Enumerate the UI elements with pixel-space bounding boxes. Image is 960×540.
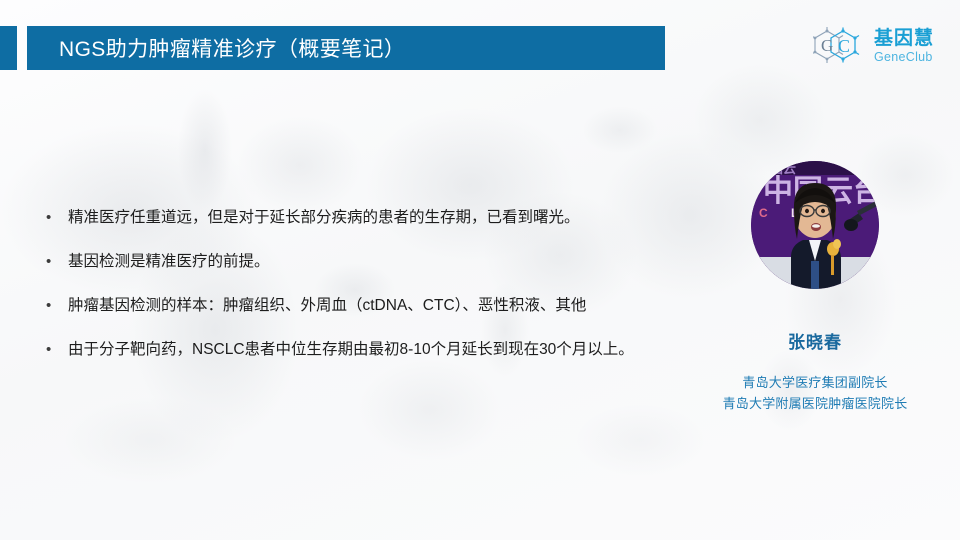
speaker-titles: 青岛大学医疗集团副院长 青岛大学附属医院肿瘤医院院长 [690,372,940,414]
logo-wordmark: 基因慧 GeneClub [874,29,934,64]
page-title: NGS助力肿瘤精准诊疗（概要笔记） [27,33,405,63]
bullet-marker-icon: • [46,250,68,274]
list-item: • 精准医疗任重道远，但是对于延长部分疾病的患者的生存期，已看到曙光。 [46,206,706,230]
bullet-text: 由于分子靶向药，NSCLC患者中位生存期由最初8-10个月延长到现在30个月以上… [68,338,634,362]
speaker-title-line: 青岛大学附属医院肿瘤医院院长 [690,393,940,414]
slide-title-bar: NGS助力肿瘤精准诊疗（概要笔记） [27,26,665,70]
bullet-text: 肿瘤基因检测的样本：肿瘤组织、外周血（ctDNA、CTC）、恶性积液、其他 [68,294,586,318]
title-accent-block [0,26,17,70]
bullet-marker-icon: • [46,338,68,362]
speaker-portrait-photo: 中国云 中国云台 C LOUD [751,161,879,289]
bullet-text: 精准医疗任重道远，但是对于延长部分疾病的患者的生存期，已看到曙光。 [68,206,580,230]
bullet-marker-icon: • [46,206,68,230]
bullet-marker-icon: • [46,294,68,318]
logo-name-cn: 基因慧 [874,29,934,48]
list-item: • 基因检测是精准医疗的前提。 [46,250,706,274]
speaker-name: 张晓春 [690,328,940,353]
svg-text:C: C [838,36,850,56]
list-item: • 肿瘤基因检测的样本：肿瘤组织、外周血（ctDNA、CTC）、恶性积液、其他 [46,294,706,318]
svg-text:G: G [821,36,833,55]
geneclub-hexagon-gc-icon: G C [813,27,867,65]
list-item: • 由于分子靶向药，NSCLC患者中位生存期由最初8-10个月延长到现在30个月… [46,338,706,362]
slide-canvas: NGS助力肿瘤精准诊疗（概要笔记） [0,0,960,540]
bullet-list: • 精准医疗任重道远，但是对于延长部分疾病的患者的生存期，已看到曙光。 • 基因… [46,206,706,382]
bullet-text: 基因检测是精准医疗的前提。 [68,250,270,274]
svg-text:C: C [759,206,768,220]
speaker-title-line: 青岛大学医疗集团副院长 [690,372,940,393]
logo-name-en: GeneClub [874,51,934,64]
brand-logo: G C 基因慧 GeneClub [813,27,934,65]
